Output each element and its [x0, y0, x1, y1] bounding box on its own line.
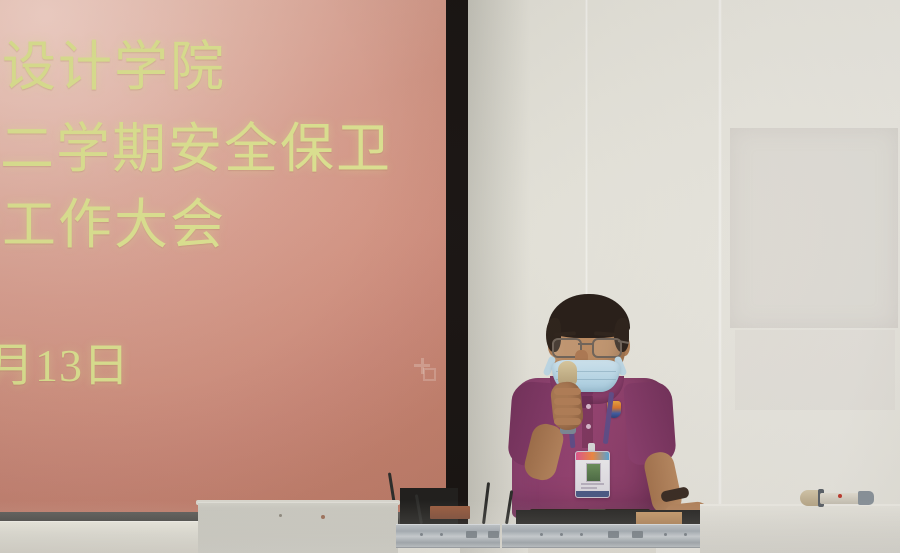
rail-slot [488, 531, 499, 538]
rail-fastener [664, 533, 667, 536]
badge-text-line [581, 487, 597, 489]
glasses-bridge [578, 343, 592, 345]
rail-fastener [560, 533, 563, 536]
id-badge [575, 451, 610, 498]
badge-header-band [576, 452, 609, 460]
table-microphone-indicator [838, 494, 842, 498]
rail-slot [466, 531, 477, 538]
rail-slot [608, 531, 619, 538]
badge-text-line [581, 483, 604, 485]
speaker-person [0, 0, 900, 553]
equipment-rail [396, 524, 500, 548]
sleeve-right [623, 380, 677, 465]
equipment-rail [502, 524, 702, 548]
rail-fastener [580, 533, 583, 536]
rail-slot [632, 531, 643, 538]
photo-scene: 术设计学院 第二学期安全保卫 备工作大会 5月13日 [0, 0, 900, 553]
polo-button [586, 404, 591, 409]
rail-fastener [440, 533, 443, 536]
badge-footer-band [576, 491, 609, 497]
finger [554, 418, 581, 425]
finger [554, 388, 581, 395]
podium-screw [321, 515, 325, 519]
badge-photo [586, 463, 601, 482]
rail-fastener [684, 533, 687, 536]
podium-screw [279, 514, 282, 517]
polo-button [586, 424, 591, 429]
table-microphone-tail [858, 491, 874, 505]
finger [554, 398, 581, 405]
ledge-left [0, 522, 206, 553]
rail-fastener [420, 533, 423, 536]
rail-fastener [540, 533, 543, 536]
podium [198, 502, 398, 553]
table-right [700, 506, 900, 553]
finger [554, 408, 581, 415]
wooden-block [430, 506, 470, 519]
